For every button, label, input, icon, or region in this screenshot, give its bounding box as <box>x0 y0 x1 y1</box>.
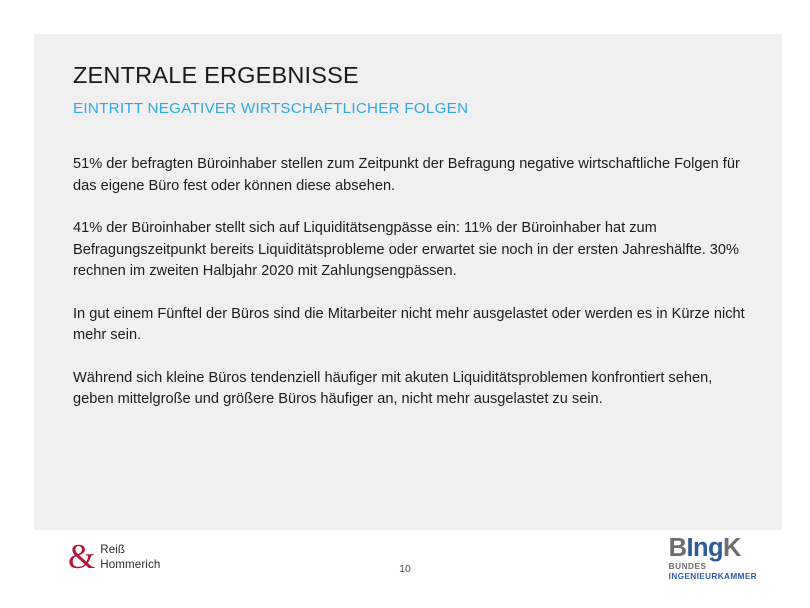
bingk-logo: BIngK BUNDES INGENIEURKAMMER <box>669 536 757 582</box>
bingk-subline-bundes: BUNDES <box>669 562 757 572</box>
paragraph-2: 41% der Büroinhaber stellt sich auf Liqu… <box>73 218 745 283</box>
title-block: ZENTRALE ERGEBNISSE EINTRITT NEGATIVER W… <box>73 62 762 118</box>
bingk-letter-b: B <box>669 534 687 562</box>
paragraph-4: Während sich kleine Büros tendenziell hä… <box>73 368 745 411</box>
body-copy: 51% der befragten Büroinhaber stellen zu… <box>73 154 745 411</box>
bingk-subline-ingenieurkammer: INGENIEURKAMMER <box>669 572 757 582</box>
bingk-letter-k: K <box>723 534 741 562</box>
bingk-wordmark: BIngK <box>669 536 757 561</box>
page-subtitle: EINTRITT NEGATIVER WIRTSCHAFTLICHER FOLG… <box>73 100 762 118</box>
reiss-line-1: Reiß <box>100 542 160 558</box>
bingk-letters-ing: Ing <box>686 534 722 562</box>
slide-panel: ZENTRALE ERGEBNISSE EINTRITT NEGATIVER W… <box>34 34 782 530</box>
page-title: ZENTRALE ERGEBNISSE <box>73 62 762 89</box>
paragraph-3: In gut einem Fünftel der Büros sind die … <box>73 304 745 347</box>
paragraph-1: 51% der befragten Büroinhaber stellen zu… <box>73 154 745 197</box>
